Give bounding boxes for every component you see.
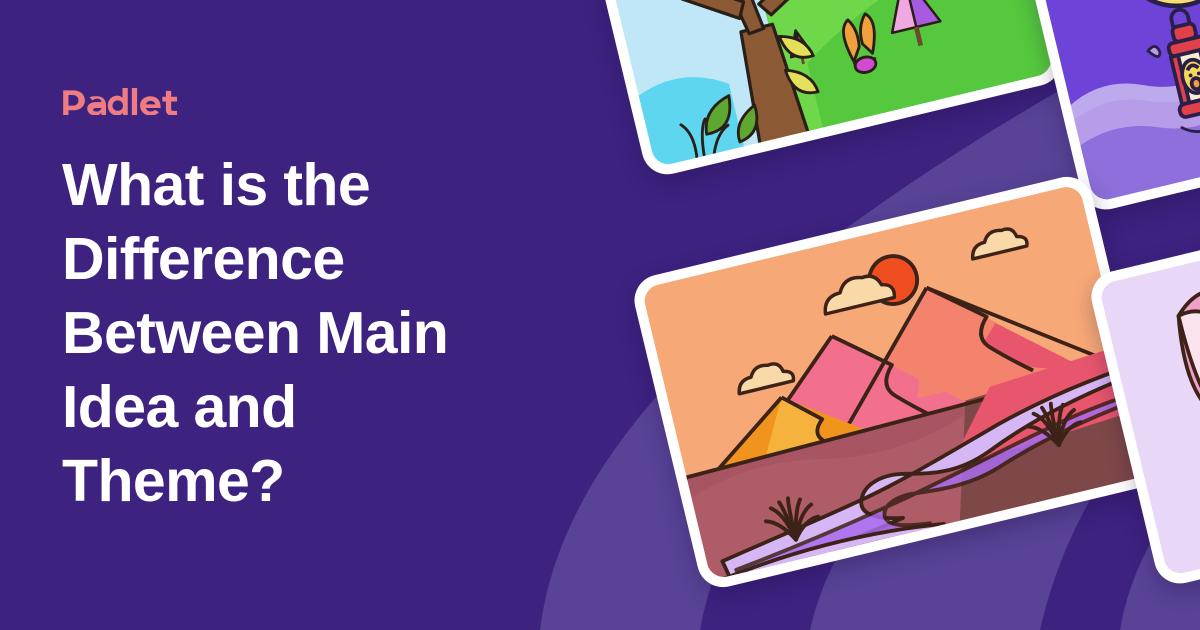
page-title: What is the Difference Between Main Idea… — [62, 148, 492, 518]
headline-column: What is the Difference Between Main Idea… — [62, 88, 582, 518]
share-card-canvas: What is the Difference Between Main Idea… — [0, 0, 1200, 630]
padlet-wordmark-logo — [62, 88, 185, 115]
